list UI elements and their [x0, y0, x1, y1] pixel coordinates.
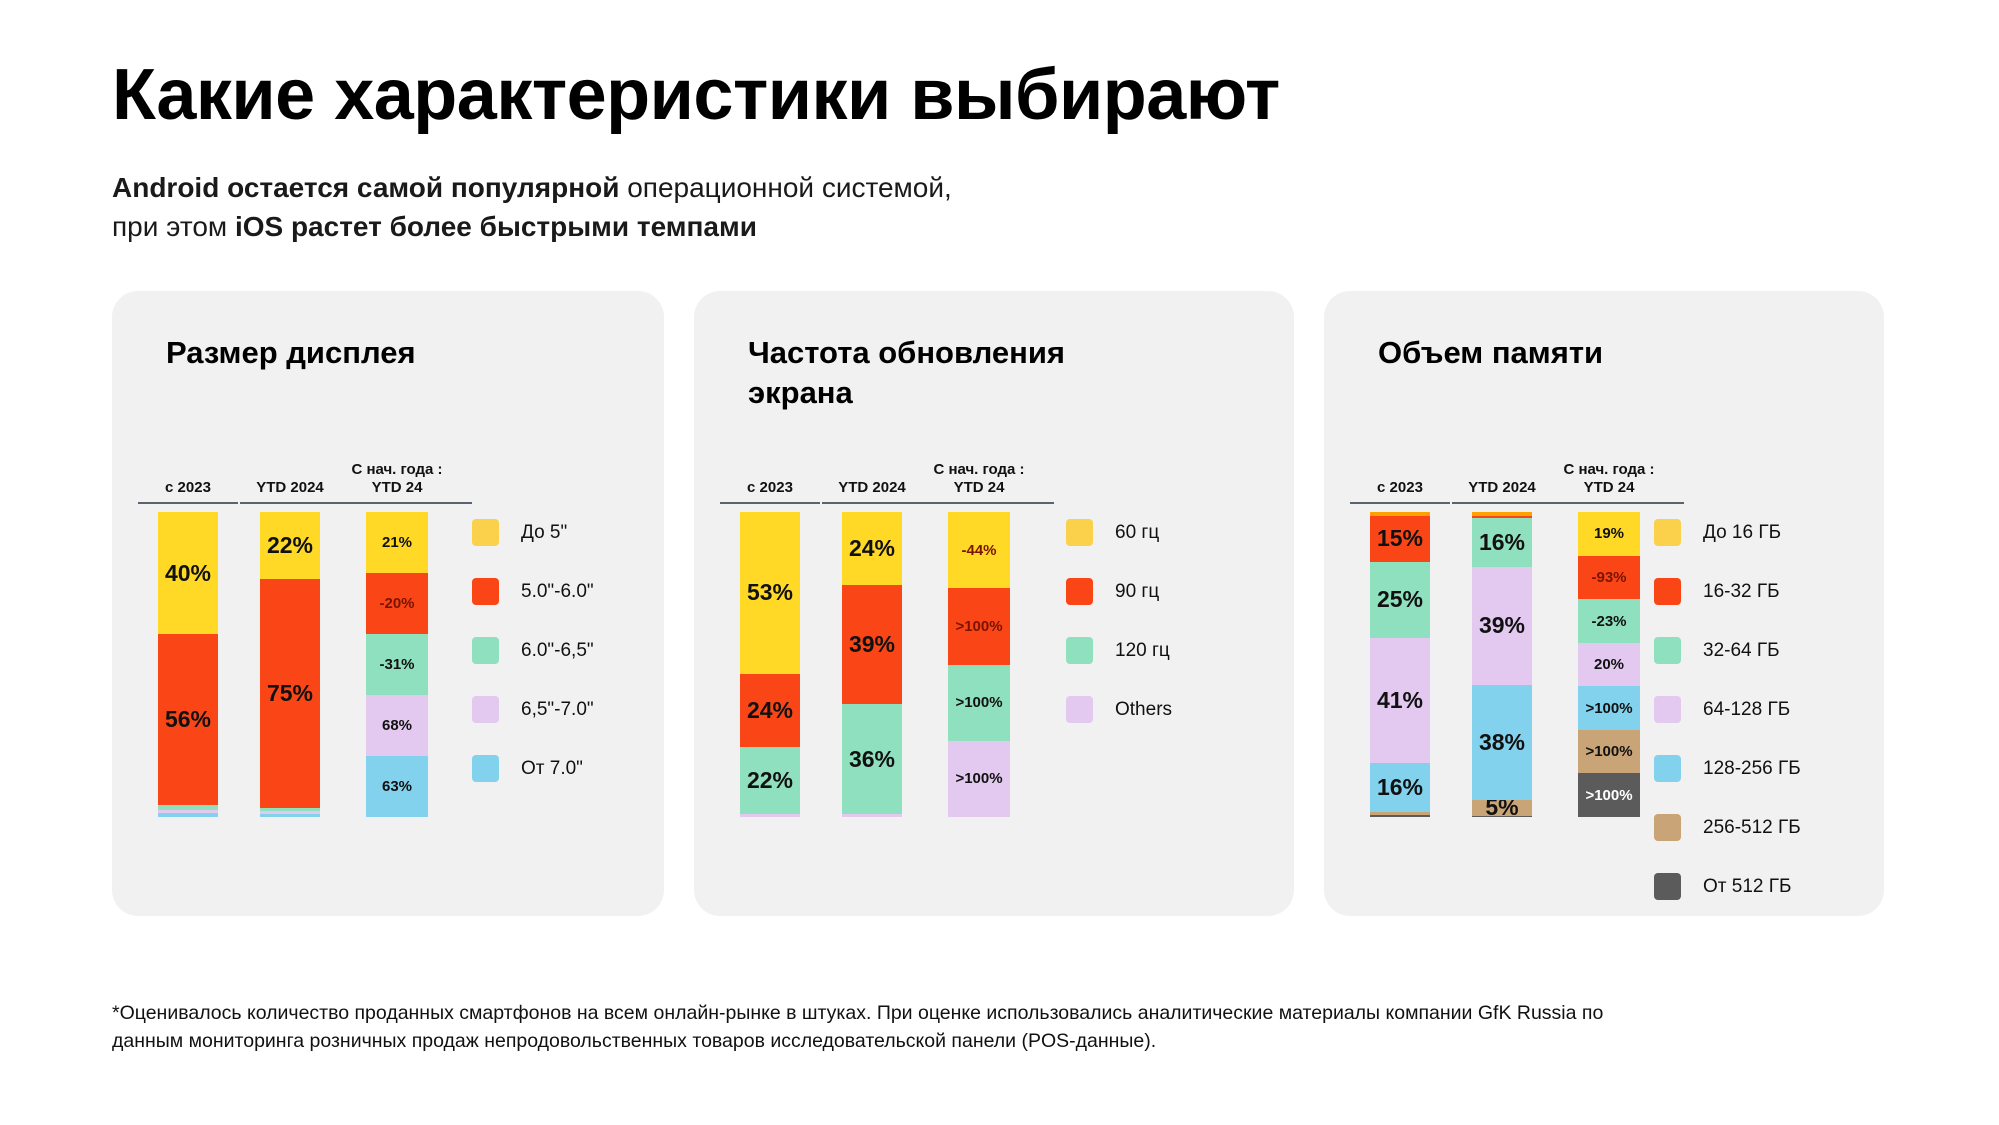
panel-title-memory: Объем памяти: [1378, 333, 1708, 373]
legend-label: 64-128 ГБ: [1703, 699, 1790, 721]
legend-memory: До 16 ГБ16-32 ГБ32-64 ГБ64-128 ГБ128-256…: [1654, 503, 1801, 916]
legend-label: 256-512 ГБ: [1703, 817, 1801, 839]
chart-memory: с 202315%25%41%16%YTD 202416%39%38%5%С н…: [1370, 459, 1640, 817]
bar-segment: [842, 814, 902, 817]
chart-display-size: с 202340%56%YTD 202422%75%С нач. года :Y…: [158, 459, 428, 817]
subtitle-rest-2: при этом: [112, 211, 235, 242]
bar-segment-label: 25%: [1377, 588, 1423, 611]
legend-label: До 5": [521, 522, 567, 544]
stacked-bar: 16%39%38%5%: [1472, 512, 1532, 817]
legend-item[interactable]: 256-512 ГБ: [1654, 798, 1801, 857]
bar-segment-label: 22%: [267, 534, 313, 557]
legend-swatch-icon: [1654, 637, 1681, 664]
bar-segment: 16%: [1370, 763, 1430, 812]
bar-segment-label: >100%: [955, 771, 1002, 786]
page-title: Какие характеристики выбирают: [112, 58, 1999, 134]
stacked-bar: 40%56%: [158, 512, 218, 817]
bar-segment-label: 21%: [382, 535, 412, 550]
chart-panel-display-size: Размер дисплея с 202340%56%YTD 202422%75…: [112, 291, 664, 916]
bar-segment: 20%: [1578, 643, 1640, 687]
charts-row: Размер дисплея с 202340%56%YTD 202422%75…: [112, 291, 1912, 916]
stacked-bar: 22%75%: [260, 512, 320, 817]
legend-label: 90 гц: [1115, 581, 1159, 603]
bar-segment: >100%: [948, 588, 1010, 664]
bar-segment: >100%: [948, 665, 1010, 741]
legend-swatch-icon: [1654, 873, 1681, 900]
bar-segment: -20%: [366, 573, 428, 634]
bar-segment: -44%: [948, 512, 1010, 588]
bar-segment-label: >100%: [1585, 744, 1632, 759]
legend-label: 128-256 ГБ: [1703, 758, 1801, 780]
legend-item[interactable]: 6.0"-6,5": [472, 621, 594, 680]
bar-segment-label: 22%: [747, 769, 793, 792]
chart-refresh-rate: с 202353%24%22%YTD 202424%39%36%С нач. г…: [740, 459, 1010, 817]
bar-segment: >100%: [1578, 730, 1640, 774]
bar-segment: 16%: [1472, 518, 1532, 567]
legend-item[interactable]: До 5": [472, 503, 594, 562]
stacked-bar: 21%-20%-31%68%63%: [366, 512, 428, 817]
bar-segment-label: >100%: [1585, 788, 1632, 803]
bar-segment-label: >100%: [1585, 701, 1632, 716]
legend-item[interactable]: Others: [1066, 680, 1172, 739]
header: Какие характеристики выбирают Android ос…: [0, 0, 1999, 247]
stacked-bar: -44%>100%>100%>100%: [948, 512, 1010, 817]
legend-swatch-icon: [1066, 578, 1093, 605]
legend-label: От 512 ГБ: [1703, 876, 1792, 898]
column-header: С нач. года :YTD 24: [1534, 459, 1684, 497]
legend-label: 32-64 ГБ: [1703, 640, 1780, 662]
bar-segment: [1472, 816, 1532, 818]
bar-segment: 68%: [366, 695, 428, 756]
legend-swatch-icon: [1654, 696, 1681, 723]
legend-label: 6,5"-7.0": [521, 699, 594, 721]
column-rule: [322, 502, 472, 504]
chart-column-ytd: YTD 202416%39%38%5%: [1472, 459, 1532, 817]
bar-segment-label: 24%: [849, 537, 895, 560]
bar-segment-label: 63%: [382, 779, 412, 794]
chart-column-past: с 202315%25%41%16%: [1370, 459, 1430, 817]
legend-item[interactable]: От 512 ГБ: [1654, 857, 1801, 916]
legend-item[interactable]: 128-256 ГБ: [1654, 739, 1801, 798]
legend-swatch-icon: [1654, 755, 1681, 782]
chart-column-delta: С нач. года :YTD 2419%-93%-23%20%>100%>1…: [1578, 459, 1640, 817]
legend-label: 5.0"-6.0": [521, 581, 594, 603]
bar-segment-label: -31%: [379, 657, 414, 672]
bar-segment: 24%: [740, 674, 800, 747]
legend-label: Others: [1115, 699, 1172, 721]
legend-swatch-icon: [472, 637, 499, 664]
page-subtitle: Android остается самой популярной операц…: [112, 168, 1999, 248]
bar-segment: >100%: [1578, 773, 1640, 817]
bar-segment: 63%: [366, 756, 428, 817]
bar-segment-label: 20%: [1594, 657, 1624, 672]
bar-segment: >100%: [948, 741, 1010, 817]
legend-swatch-icon: [1066, 519, 1093, 546]
footnote: *Оценивалось количество проданных смартф…: [112, 1000, 1672, 1055]
legend-swatch-icon: [472, 696, 499, 723]
bar-segment: 25%: [1370, 562, 1430, 638]
chart-column-delta: С нач. года :YTD 2421%-20%-31%68%63%: [366, 459, 428, 817]
bar-segment-label: 38%: [1479, 731, 1525, 754]
bar-segment: [1370, 815, 1430, 817]
panel-title-refresh-rate: Частота обновления экрана: [748, 333, 1078, 412]
bar-segment-label: >100%: [955, 619, 1002, 634]
slide-root: Какие характеристики выбирают Android ос…: [0, 0, 1999, 1125]
legend-swatch-icon: [472, 578, 499, 605]
bar-segment: 40%: [158, 512, 218, 634]
legend-label: 16-32 ГБ: [1703, 581, 1780, 603]
legend-item[interactable]: 64-128 ГБ: [1654, 680, 1801, 739]
stacked-bar: 53%24%22%: [740, 512, 800, 817]
column-header: С нач. года :YTD 24: [322, 459, 472, 497]
legend-item[interactable]: 32-64 ГБ: [1654, 621, 1801, 680]
bar-segment-label: >100%: [955, 695, 1002, 710]
legend-refresh-rate: 60 гц90 гц120 гцOthers: [1066, 503, 1172, 739]
bar-segment: -93%: [1578, 556, 1640, 600]
bar-segment: 39%: [1472, 567, 1532, 685]
column-header: с 2023: [1350, 459, 1450, 497]
bar-segment: 22%: [260, 512, 320, 579]
bar-segment: 22%: [740, 747, 800, 814]
bar-segment-label: 40%: [165, 562, 211, 585]
bar-segment-label: 24%: [747, 699, 793, 722]
chart-panel-memory: Объем памяти с 202315%25%41%16%YTD 20241…: [1324, 291, 1884, 916]
bar-segment-label: -23%: [1591, 614, 1626, 629]
panel-title-display-size: Размер дисплея: [166, 333, 496, 373]
chart-panel-refresh-rate: Частота обновления экрана с 202353%24%22…: [694, 291, 1294, 916]
bar-segment-label: -44%: [961, 543, 996, 558]
bar-segment: 19%: [1578, 512, 1640, 556]
legend-swatch-icon: [1654, 519, 1681, 546]
bar-segment: [158, 813, 218, 817]
bar-segment-label: 39%: [849, 633, 895, 656]
bar-segment: 75%: [260, 579, 320, 808]
column-rule: [720, 502, 820, 504]
chart-column-ytd: YTD 202422%75%: [260, 459, 320, 817]
bar-segment: 15%: [1370, 516, 1430, 562]
stacked-bar: 19%-93%-23%20%>100%>100%>100%: [1578, 512, 1640, 817]
column-header: С нач. года :YTD 24: [904, 459, 1054, 497]
legend-label: До 16 ГБ: [1703, 522, 1781, 544]
legend-swatch-icon: [472, 755, 499, 782]
bar-segment-label: -93%: [1591, 570, 1626, 585]
bar-segment: 39%: [842, 585, 902, 704]
bar-segment-label: 68%: [382, 718, 412, 733]
chart-column-delta: С нач. года :YTD 24-44%>100%>100%>100%: [948, 459, 1010, 817]
legend-item[interactable]: 6,5"-7.0": [472, 680, 594, 739]
bar-segment: 24%: [842, 512, 902, 585]
subtitle-bold-ios: iOS растет более быстрыми темпами: [235, 211, 757, 242]
stacked-bar: 24%39%36%: [842, 512, 902, 817]
bar-segment-label: 16%: [1479, 531, 1525, 554]
bar-segment-label: 39%: [1479, 614, 1525, 637]
bar-segment: 38%: [1472, 685, 1532, 800]
legend-label: 60 гц: [1115, 522, 1159, 544]
bar-segment: [260, 814, 320, 817]
column-header: с 2023: [720, 459, 820, 497]
legend-item[interactable]: До 16 ГБ: [1654, 503, 1801, 562]
chart-column-past: с 202340%56%: [158, 459, 218, 817]
chart-column-ytd: YTD 202424%39%36%: [842, 459, 902, 817]
bar-segment-label: -20%: [379, 596, 414, 611]
bar-segment: 41%: [1370, 638, 1430, 763]
subtitle-bold-android: Android остается самой популярной: [112, 172, 619, 203]
column-rule: [1350, 502, 1450, 504]
legend-item[interactable]: 90 гц: [1066, 562, 1172, 621]
legend-item[interactable]: От 7.0": [472, 739, 594, 798]
legend-label: 120 гц: [1115, 640, 1170, 662]
bar-segment: -23%: [1578, 599, 1640, 643]
legend-item[interactable]: 5.0"-6.0": [472, 562, 594, 621]
legend-item[interactable]: 16-32 ГБ: [1654, 562, 1801, 621]
column-rule: [138, 502, 238, 504]
bar-segment-label: 56%: [165, 708, 211, 731]
bar-segment: 53%: [740, 512, 800, 674]
bar-segment-label: 36%: [849, 748, 895, 771]
legend-swatch-icon: [1654, 814, 1681, 841]
bar-segment-label: 19%: [1594, 526, 1624, 541]
column-rule: [904, 502, 1054, 504]
bar-segment: -31%: [366, 634, 428, 695]
bar-segment-label: 16%: [1377, 776, 1423, 799]
legend-swatch-icon: [1654, 578, 1681, 605]
column-header: с 2023: [138, 459, 238, 497]
bar-segment: 36%: [842, 704, 902, 814]
bar-segment-label: 15%: [1377, 527, 1423, 550]
subtitle-rest-1: операционной системой,: [619, 172, 951, 203]
legend-label: 6.0"-6,5": [521, 640, 594, 662]
bar-segment: 21%: [366, 512, 428, 573]
bar-segment: 5%: [1472, 800, 1532, 815]
legend-display-size: До 5"5.0"-6.0"6.0"-6,5"6,5"-7.0"От 7.0": [472, 503, 594, 798]
legend-label: От 7.0": [521, 758, 583, 780]
legend-swatch-icon: [1066, 637, 1093, 664]
chart-column-past: с 202353%24%22%: [740, 459, 800, 817]
legend-item[interactable]: 120 гц: [1066, 621, 1172, 680]
bar-segment: 56%: [158, 634, 218, 805]
legend-swatch-icon: [1066, 696, 1093, 723]
bar-segment-label: 5%: [1485, 800, 1518, 815]
bar-segment: [740, 814, 800, 817]
bar-segment-label: 53%: [747, 581, 793, 604]
bar-segment-label: 41%: [1377, 689, 1423, 712]
bar-segment: >100%: [1578, 686, 1640, 730]
legend-swatch-icon: [472, 519, 499, 546]
bar-segment-label: 75%: [267, 682, 313, 705]
legend-item[interactable]: 60 гц: [1066, 503, 1172, 562]
stacked-bar: 15%25%41%16%: [1370, 512, 1430, 817]
